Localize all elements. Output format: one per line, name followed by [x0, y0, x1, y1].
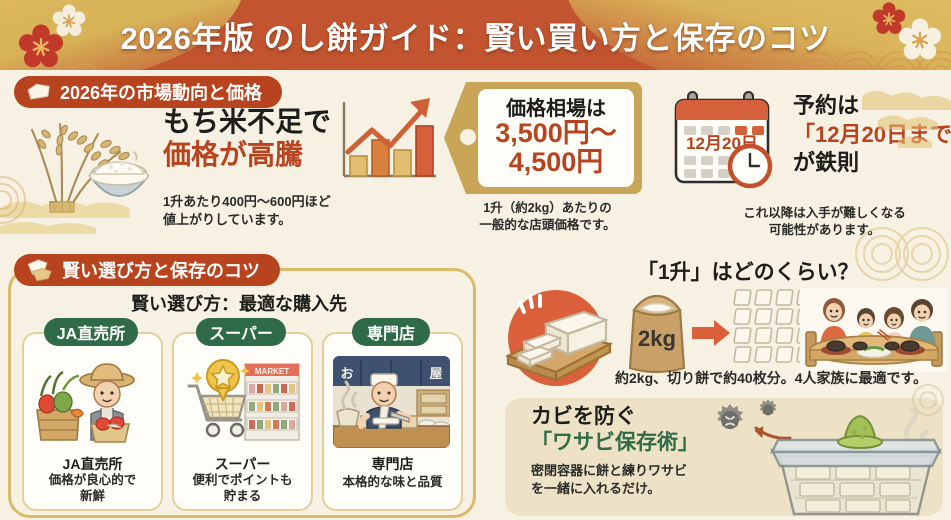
section-badge-smart-choice: 賢い選び方と保存のコツ: [14, 254, 280, 286]
seigaiha-decor-bottom: [906, 378, 950, 400]
card-art-specialty: お 屋: [333, 356, 450, 448]
card-desc-supermarket-line-2: 貯まる: [178, 489, 307, 505]
infographic-page: 2026年版 のし餅ガイド：賢い買い方と保存のコツ 2026年の市場動向と価格: [0, 0, 951, 520]
section1-caption-line-1: 1升あたり400円〜600円ほど: [163, 193, 393, 211]
purchase-card-ja[interactable]: JA直売所 価格が良心的で 新鮮: [22, 332, 163, 511]
wasabi-caption-line-1: 密閉容器に餅と練りワサビ: [531, 462, 746, 480]
card-art-ja: [33, 356, 150, 448]
card-desc-ja-line-1: 価格が良心的で: [28, 473, 157, 489]
seigaiha-decor-left: [0, 170, 40, 200]
gold-cloud-decor: [852, 86, 951, 152]
price-tag-amount-high: 4,500円: [509, 148, 604, 177]
family-eating-icon: [800, 288, 948, 372]
wasabi-line-1: カビを防ぐ: [531, 404, 699, 430]
rising-bar-chart-icon: [338, 92, 440, 182]
price-tag-amount-low: 3,500円〜: [495, 119, 617, 148]
shopping-cart-and-market-shelf-icon: MARKET: [183, 356, 300, 448]
card-pill-specialty: 専門店: [352, 318, 430, 346]
mochi-on-cutting-board-icon: [498, 286, 620, 390]
card-desc-specialty: 本格的な味と品質: [328, 475, 457, 491]
section1-caption: 1升あたり400円〜600円ほど 値上がりしています。: [163, 193, 393, 228]
card-title-specialty: 専門店: [324, 454, 461, 474]
section1-caption-line-2: 値上がりしています。: [163, 211, 393, 229]
airtight-container-with-wasabi-icon: [770, 410, 942, 520]
smart-choice-subheading: 賢い選び方：最適な購入先: [8, 290, 470, 316]
rice-bag-label: 2kg: [638, 326, 676, 351]
section-badge-market-trends: 2026年の市場動向と価格: [14, 76, 282, 108]
card-art-supermarket: MARKET: [183, 356, 300, 448]
card-desc-supermarket: 便利でポイントも 貯まる: [178, 473, 307, 504]
price-tag-hole: [460, 129, 476, 145]
calendar-icon: 12月20日: [672, 88, 782, 194]
serving-size-caption: 約2kg、切り餅で約40枚分。4人家族に最適です。: [615, 368, 927, 388]
card-desc-ja-line-2: 新鮮: [28, 489, 157, 505]
purchase-card-supermarket[interactable]: MARKET: [172, 332, 313, 511]
price-tag-card: 価格相場は 3,500円〜 4,500円: [478, 89, 634, 187]
section-badge-label-2: 賢い選び方と保存のコツ: [62, 257, 260, 283]
card-pill-supermarket: スーパー: [196, 318, 286, 346]
price-tag-caption-line-2: 一般的な店頭価格です。: [455, 217, 640, 234]
headline-line-2: 価格が高騰: [163, 138, 331, 171]
price-tag-label: 価格相場は: [506, 99, 606, 119]
serving-size-heading: 「1升」はどのくらい？: [637, 256, 859, 286]
svg-text:お: お: [340, 366, 353, 381]
farmer-with-vegetables-icon: [33, 356, 150, 448]
specialty-shop-artisan-icon: お 屋: [333, 356, 450, 448]
card-pill-ja: JA直売所: [44, 318, 138, 346]
price-tag-caption-line-1: 1升（約2kg）あたりの: [455, 200, 640, 217]
price-tag: 価格相場は 3,500円〜 4,500円: [444, 82, 642, 194]
mochi-block-icon: [24, 81, 52, 103]
headline-line-1: もち米不足で: [163, 105, 331, 138]
section1-headline: もち米不足で 価格が高騰: [163, 105, 331, 171]
price-tag-caption: 1升（約2kg）あたりの 一般的な店頭価格です。: [455, 200, 640, 234]
card-desc-specialty-line-1: 本格的な味と品質: [328, 475, 457, 491]
arrow-right-icon: [692, 320, 730, 346]
header-banner: 2026年版 のし餅ガイド：賢い買い方と保存のコツ: [0, 0, 951, 70]
card-title-ja: JA直売所: [24, 454, 161, 474]
page-title: 2026年版 のし餅ガイド：賢い買い方と保存のコツ: [0, 0, 951, 70]
mochi-pieces-icon: [24, 258, 54, 282]
wasabi-caption-line-2: を一緒に入れるだけ。: [531, 480, 746, 498]
deadline-line-3: が鉄則: [793, 149, 951, 178]
section-badge-label: 2026年の市場動向と価格: [60, 79, 262, 105]
wasabi-caption: 密閉容器に餅と練りワサビ を一緒に入れるだけ。: [531, 462, 746, 497]
purchase-card-specialty[interactable]: お 屋: [322, 332, 463, 511]
svg-text:屋: 屋: [429, 366, 442, 381]
wasabi-line-2: 「ワサビ保存術」: [531, 430, 699, 456]
wasabi-headline: カビを防ぐ 「ワサビ保存術」: [531, 404, 699, 457]
svg-text:MARKET: MARKET: [255, 367, 289, 376]
rice-bag-icon: 2kg: [624, 288, 690, 374]
card-desc-supermarket-line-1: 便利でポイントも: [178, 473, 307, 489]
seigaiha-decor-right: [868, 188, 951, 254]
card-title-supermarket: スーパー: [174, 454, 311, 474]
card-desc-ja: 価格が良心的で 新鮮: [28, 473, 157, 504]
